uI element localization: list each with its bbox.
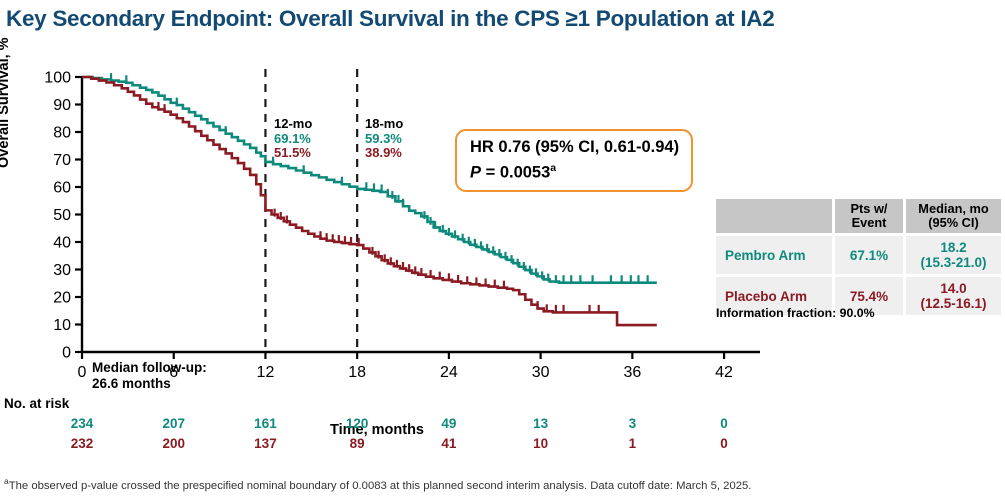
x-tick-label: 18 [348,364,366,378]
p-value: = 0.0053 [481,164,550,182]
stats-row-pembro-median: 18.2 (15.3-21.0) [906,236,1001,274]
milestone-12mo-placebo: 51.5% [274,146,312,161]
hr-line: HR 0.76 (95% CI, 0.61-0.94) [470,137,679,157]
at-risk-value: 13 [519,416,563,431]
x-tick-label: 12 [257,364,275,378]
stats-row-placebo-median-ci: (12.5-16.1) [906,296,1001,311]
stats-header-arm [716,199,832,233]
stats-table-header-row: Pts w/ Event Median, mo (95% CI) [716,199,1001,233]
median-followup-line2: 26.6 months [92,376,207,392]
y-tick-label: 30 [53,262,71,279]
y-tick-label: 60 [53,180,71,197]
at-risk-title: No. at risk [4,396,69,411]
km-curve-placebo [82,77,657,325]
y-tick-label: 20 [53,290,71,307]
x-tick-label: 24 [440,364,458,378]
y-tick-label: 0 [62,345,71,362]
p-value-line: P = 0.0053a [470,158,679,183]
at-risk-value: 120 [335,416,379,431]
x-tick-label: 30 [532,364,550,378]
at-risk-value: 200 [152,436,196,451]
stats-row-pembro-median-value: 18.2 [906,240,1001,255]
at-risk-value: 1 [610,436,654,451]
stats-row-pembro-pts-with-event: 67.1% [835,236,903,274]
y-tick-label: 10 [53,317,71,334]
km-chart: 010203040506070809010006121824303642 Ove… [0,48,760,378]
stats-table: Pts w/ Event Median, mo (95% CI) Pembro … [716,199,1001,315]
p-value-superscript: a [550,162,556,174]
at-risk-value: 234 [60,416,104,431]
stats-header-median-line1: Median, mo [906,202,1001,216]
y-tick-label: 70 [53,152,71,169]
at-risk-value: 161 [243,416,287,431]
y-tick-label: 80 [53,125,71,142]
at-risk-value: 0 [702,436,746,451]
milestone-18mo-placebo: 38.9% [365,146,403,161]
stats-header-pts-with-event: Pts w/ Event [835,199,903,233]
y-axis-label: Overall Survival, % [0,37,12,168]
footnote-text: The observed p-value crossed the prespec… [9,480,752,492]
at-risk-value: 207 [152,416,196,431]
footnote: aThe observed p-value crossed the prespe… [4,476,999,492]
at-risk-value: 3 [610,416,654,431]
stats-row-placebo-median: 14.0 (12.5-16.1) [906,277,1001,315]
median-followup-annotation: Median follow-up: 26.6 months [92,360,207,392]
milestone-12mo-pembro: 69.1% [274,132,312,147]
milestone-12mo-label: 12-mo [274,117,312,132]
y-tick-label: 100 [44,70,71,87]
stats-header-median-line2: (95% CI) [906,216,1001,230]
at-risk-value: 0 [702,416,746,431]
km-plot-svg: 010203040506070809010006121824303642 [0,48,760,378]
x-tick-label: 36 [623,364,641,378]
hazard-ratio-box: HR 0.76 (95% CI, 0.61-0.94) P = 0.0053a [455,129,693,192]
information-fraction: Information fraction: 90.0% [716,306,875,320]
stats-header-median: Median, mo (95% CI) [906,199,1001,233]
milestone-12mo: 12-mo 69.1% 51.5% [274,117,312,161]
at-risk-value: 137 [243,436,287,451]
at-risk-value: 89 [335,436,379,451]
at-risk-value: 232 [60,436,104,451]
x-tick-label: 42 [715,364,733,378]
milestone-18mo-label: 18-mo [365,117,403,132]
stats-header-pts-line2: Event [835,216,903,230]
milestone-18mo-pembro: 59.3% [365,132,403,147]
at-risk-value: 49 [427,416,471,431]
at-risk-value: 41 [427,436,471,451]
table-row: Pembro Arm 67.1% 18.2 (15.3-21.0) [716,236,1001,274]
slide-root: Key Secondary Endpoint: Overall Survival… [0,0,1005,503]
x-tick-label: 0 [78,364,87,378]
p-symbol: P [470,164,481,182]
y-tick-label: 90 [53,97,71,114]
stats-row-pembro-arm: Pembro Arm [716,236,832,274]
at-risk-value: 10 [519,436,563,451]
y-tick-label: 40 [53,235,71,252]
median-followup-line1: Median follow-up: [92,360,207,376]
milestone-18mo: 18-mo 59.3% 38.9% [365,117,403,161]
page-title: Key Secondary Endpoint: Overall Survival… [6,6,996,32]
stats-header-pts-line1: Pts w/ [835,202,903,216]
stats-row-placebo-median-value: 14.0 [906,281,1001,296]
stats-row-pembro-median-ci: (15.3-21.0) [906,255,1001,270]
y-tick-label: 50 [53,207,71,224]
